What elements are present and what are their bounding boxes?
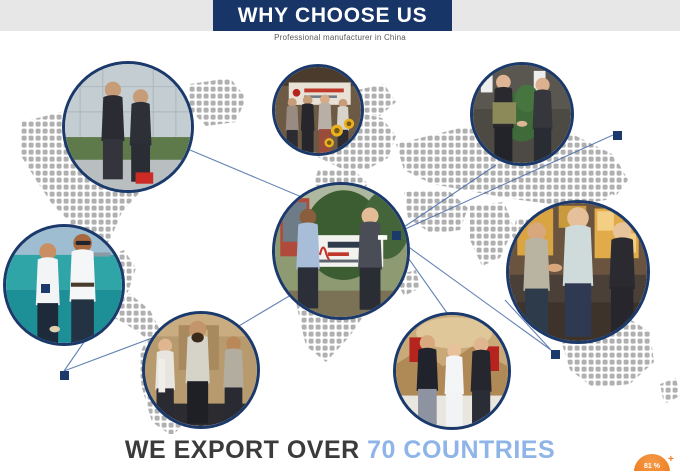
export-caption: WE EXPORT OVER 70 COUNTRIES: [0, 436, 680, 465]
photo-nexans-sign-image: [275, 185, 407, 317]
photo-office-trio: [142, 311, 260, 429]
marker-southeast-asia: [551, 350, 560, 359]
caption-dark-part: WE EXPORT OVER: [125, 436, 367, 464]
marker-east-asia: [613, 131, 622, 140]
photo-greenhouse-netherlands-image: [65, 64, 191, 190]
marker-south-america: [41, 284, 50, 293]
marker-north-america: [60, 371, 69, 380]
badge-percent-label: 81 %: [634, 463, 670, 470]
photo-mural-trio: [393, 312, 511, 430]
poster-canvas: WHY CHOOSE US Professional manufacturer …: [0, 0, 680, 471]
photo-greenhouse-netherlands: [62, 61, 194, 193]
photo-office-trio-image: [145, 314, 257, 426]
photo-nexans-sign: [272, 182, 410, 320]
badge-plus-icon: +: [668, 455, 677, 464]
photo-seaside-pair: [3, 224, 125, 346]
photo-showroom-handshake-image: [509, 203, 647, 341]
photo-showroom-handshake: [506, 200, 650, 344]
photo-mural-trio-image: [396, 315, 508, 427]
why-choose-us-banner: WHY CHOOSE US: [213, 0, 452, 31]
caption-blue-part: 70 COUNTRIES: [367, 436, 555, 464]
photo-seaside-pair-image: [6, 227, 122, 343]
subtitle-text: Professional manufacturer in China: [0, 33, 680, 42]
photo-china-office-sunflowers: [272, 64, 364, 156]
banner-title-text: WHY CHOOSE US: [238, 5, 428, 26]
marker-europe: [392, 231, 401, 240]
photo-handshake-indoor: [470, 62, 574, 166]
photo-china-office-sunflowers-image: [275, 67, 361, 153]
photo-handshake-indoor-image: [473, 65, 571, 163]
